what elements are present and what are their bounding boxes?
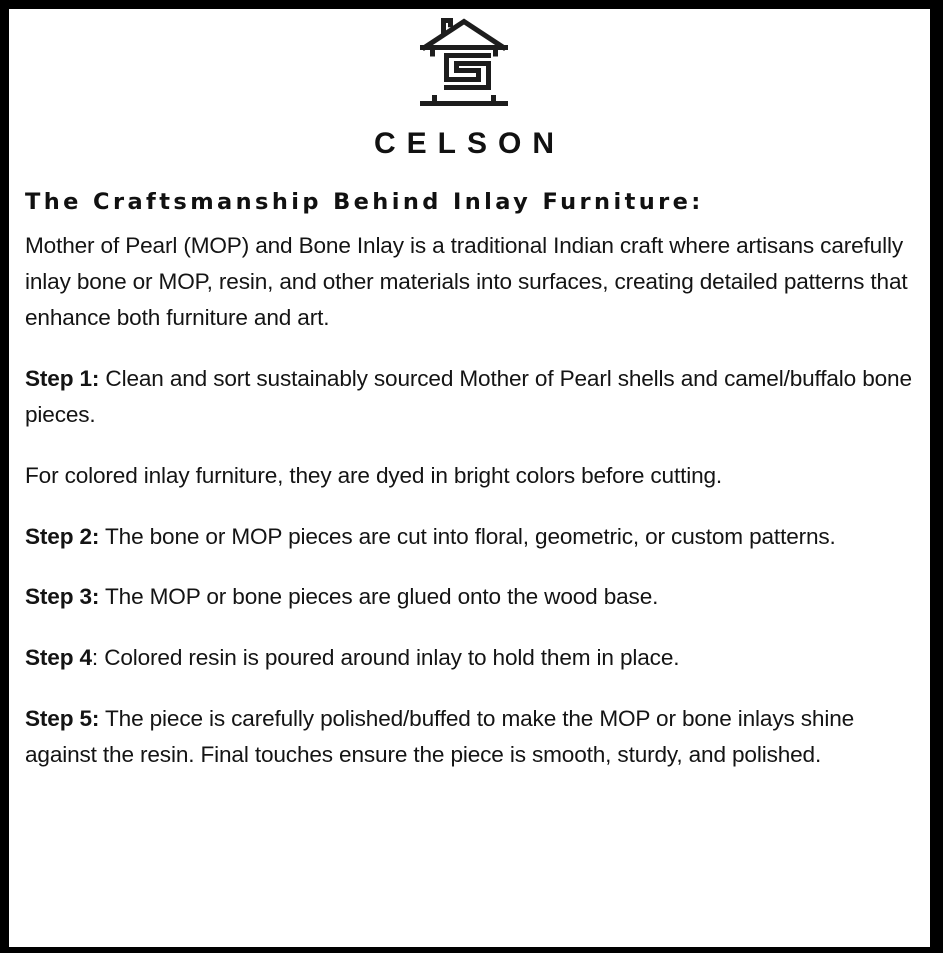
paragraph-lead: Step 2: <box>25 524 99 549</box>
paragraph-step-2: Step 2: The bone or MOP pieces are cut i… <box>25 519 912 555</box>
brand-block: CELSON <box>16 9 912 159</box>
paragraph-text: The MOP or bone pieces are glued onto th… <box>105 584 658 609</box>
paragraph-step-1: Step 1: Clean and sort sustainably sourc… <box>25 361 912 433</box>
paragraph-lead: Step 5: <box>25 706 99 731</box>
brand-wordmark: CELSON <box>16 129 912 159</box>
page-title: The Craftsmanship Behind Inlay Furniture… <box>25 189 912 216</box>
paragraph-text: For colored inlay furniture, they are dy… <box>25 463 722 488</box>
paragraph-lead: Step 1: <box>25 366 99 391</box>
paragraph-step-3: Step 3: The MOP or bone pieces are glued… <box>25 579 912 615</box>
paragraph-lead-colon: : <box>92 645 98 670</box>
paragraph-step-5: Step 5: The piece is carefully polished/… <box>25 701 912 773</box>
poster-card: CELSON The Craftsmanship Behind Inlay Fu… <box>0 0 943 953</box>
paragraph-intro: Mother of Pearl (MOP) and Bone Inlay is … <box>25 228 912 336</box>
house-with-c-monogram-icon <box>416 13 512 115</box>
paragraph-text: The piece is carefully polished/buffed t… <box>25 706 854 767</box>
paragraph-step-4: Step 4: Colored resin is poured around i… <box>25 640 912 676</box>
paragraph-dye-note: For colored inlay furniture, they are dy… <box>25 458 912 494</box>
paragraph-lead: Step 4 <box>25 645 92 670</box>
paragraph-text: Colored resin is poured around inlay to … <box>104 645 679 670</box>
paragraph-text: Mother of Pearl (MOP) and Bone Inlay is … <box>25 233 908 330</box>
body-copy: Mother of Pearl (MOP) and Bone Inlay is … <box>25 216 912 773</box>
paragraph-lead: Step 3: <box>25 584 99 609</box>
paragraph-text: Clean and sort sustainably sourced Mothe… <box>25 366 912 427</box>
paragraph-text: The bone or MOP pieces are cut into flor… <box>105 524 836 549</box>
poster-inner: CELSON The Craftsmanship Behind Inlay Fu… <box>9 9 930 947</box>
